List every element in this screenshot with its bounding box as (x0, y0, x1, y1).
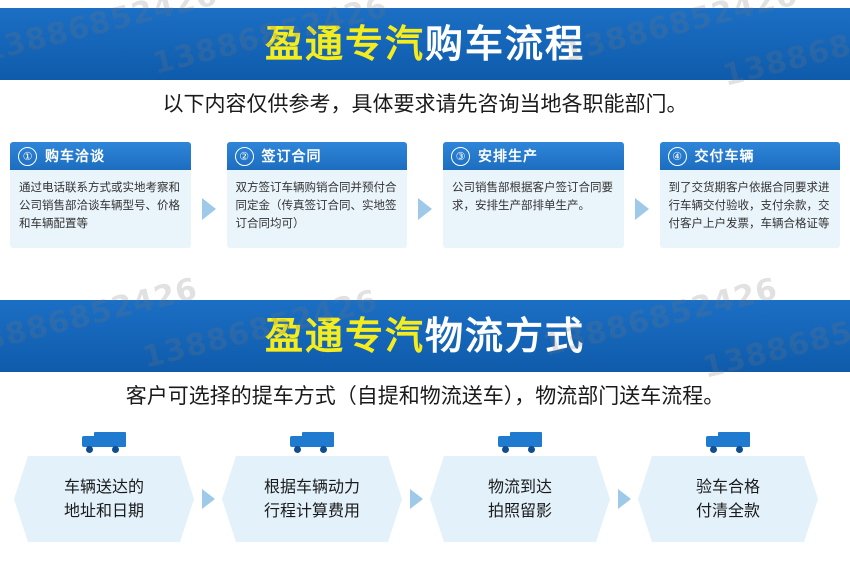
step-number-icon: ③ (451, 147, 470, 166)
banner-brand-text: 盈通专汽 (265, 25, 425, 63)
step-title: 签订合同 (262, 146, 322, 166)
logistics-subtitle: 客户可选择的提车方式（自提和物流送车），物流部门送车流程。 (0, 380, 850, 410)
banner-brand-text: 盈通专汽 (265, 317, 425, 355)
purchase-process-subtitle: 以下内容仅供参考，具体要求请先咨询当地各职能部门。 (0, 88, 850, 118)
truck-icon (706, 432, 750, 454)
truck-icon (82, 432, 126, 454)
step-card-3: ③ 安排生产 公司销售部根据客户签订合同要求，安排生产部排单生产。 (443, 142, 624, 248)
logistics-card-body: 验车合格 付清全款 (638, 456, 818, 542)
logistics-card-2: 根据车辆动力 行程计算费用 (222, 432, 402, 542)
step-title: 交付车辆 (695, 146, 755, 166)
step-arrow-icon (407, 170, 443, 248)
logistics-card-line1: 物流到达 (488, 475, 552, 499)
banner-title-text: 购车流程 (425, 25, 585, 63)
logistics-card-line2: 行程计算费用 (264, 499, 360, 523)
step-number-icon: ① (18, 147, 37, 166)
purchase-step-list: ① 购车洽谈 通过电话联系方式或实地考察和公司销售部洽谈车辆型号、价格和车辆配置… (10, 142, 840, 272)
logistics-card-line2: 付清全款 (696, 499, 760, 523)
step-number-icon: ④ (668, 147, 687, 166)
logistics-card-body: 车辆送达的 地址和日期 (14, 456, 194, 542)
logistics-card-line1: 验车合格 (696, 475, 760, 499)
logistics-card-line2: 地址和日期 (64, 499, 144, 523)
step-body: 通过电话联系方式或实地考察和公司销售部洽谈车辆型号、价格和车辆配置等 (10, 170, 191, 248)
logistics-card-line2: 拍照留影 (488, 499, 552, 523)
purchase-process-banner: 盈通专汽 购车流程 (0, 8, 850, 80)
logistics-step-list: 车辆送达的 地址和日期 根据车辆动力 行程计算费用 物流到达 拍照留影 验车合格… (14, 432, 836, 552)
step-body: 公司销售部根据客户签订合同要求，安排生产部排单生产。 (443, 170, 624, 248)
step-header-2: ② 签订合同 (227, 142, 408, 170)
logistics-card-body: 物流到达 拍照留影 (430, 456, 610, 542)
step-header-3: ③ 安排生产 (443, 142, 624, 170)
step-arrow-icon (191, 170, 227, 248)
banner-title-text: 物流方式 (425, 317, 585, 355)
logistics-arrow-icon (610, 456, 638, 542)
logistics-card-body: 根据车辆动力 行程计算费用 (222, 456, 402, 542)
truck-icon (290, 432, 334, 454)
step-card-1: ① 购车洽谈 通过电话联系方式或实地考察和公司销售部洽谈车辆型号、价格和车辆配置… (10, 142, 191, 248)
logistics-card-1: 车辆送达的 地址和日期 (14, 432, 194, 542)
truck-icon (498, 432, 542, 454)
logistics-card-3: 物流到达 拍照留影 (430, 432, 610, 542)
step-header-4: ④ 交付车辆 (660, 142, 841, 170)
logistics-arrow-icon (402, 456, 430, 542)
step-arrow-icon (624, 170, 660, 248)
logistics-arrow-icon (194, 456, 222, 542)
logistics-card-4: 验车合格 付清全款 (638, 432, 818, 542)
step-title: 安排生产 (478, 146, 538, 166)
logistics-card-line1: 根据车辆动力 (264, 475, 360, 499)
logistics-card-line1: 车辆送达的 (64, 475, 144, 499)
step-number-icon: ② (235, 147, 254, 166)
step-body: 到了交货期客户依据合同要求进行车辆交付验收，支付余款，交付客户上户发票，车辆合格… (660, 170, 841, 248)
step-card-4: ④ 交付车辆 到了交货期客户依据合同要求进行车辆交付验收，支付余款，交付客户上户… (660, 142, 841, 248)
step-body: 双方签订车辆购销合同并预付合同定金（传真签订合同、实地签订合同均可） (227, 170, 408, 248)
step-title: 购车洽谈 (45, 146, 105, 166)
logistics-banner: 盈通专汽 物流方式 (0, 300, 850, 372)
step-header-1: ① 购车洽谈 (10, 142, 191, 170)
step-card-2: ② 签订合同 双方签订车辆购销合同并预付合同定金（传真签订合同、实地签订合同均可… (227, 142, 408, 248)
